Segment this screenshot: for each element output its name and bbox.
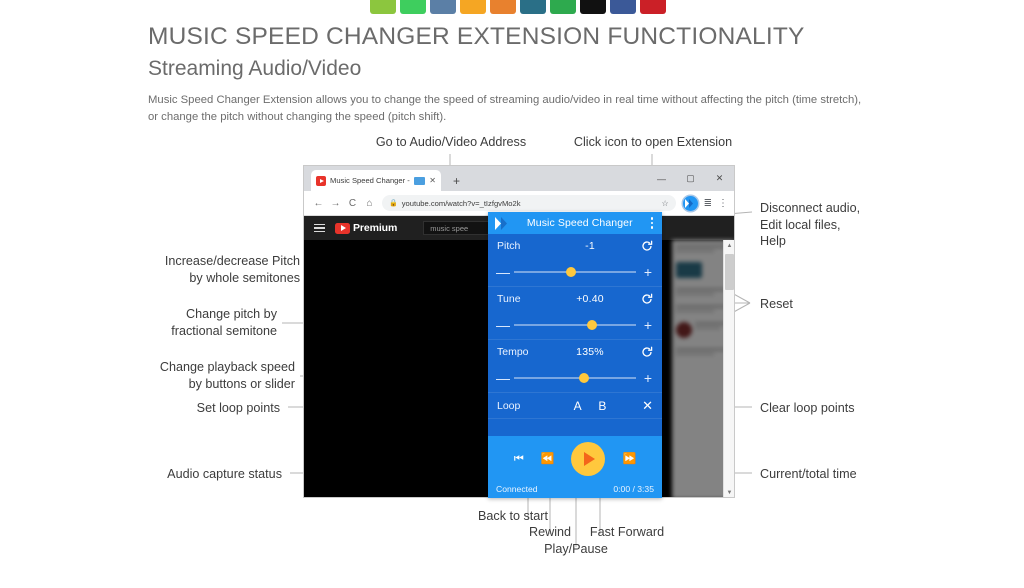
browser-tab-title: Music Speed Changer - YouT	[330, 176, 410, 185]
clear-loop-icon[interactable]: ✕	[637, 399, 653, 412]
extension-overflow-menu-icon[interactable]	[649, 215, 655, 230]
minimize-button[interactable]: —	[647, 166, 676, 191]
bookmark-star-icon[interactable]: ☆	[661, 199, 668, 208]
tune-control: Tune +0.40 — +	[488, 287, 662, 340]
loop-ab-buttons[interactable]: A B	[543, 399, 637, 413]
pitch-slider-thumb[interactable]	[566, 267, 576, 277]
wechat-share-icon[interactable]	[550, 0, 576, 14]
youtube-search-value: music spee	[430, 224, 468, 233]
annotation-click-icon: Click icon to open Extension	[556, 134, 750, 151]
tune-value: +0.40	[543, 293, 637, 305]
telegram-share-icon[interactable]	[430, 0, 456, 14]
whatsapp-share-icon[interactable]	[370, 0, 396, 14]
tab-audio-indicator-icon	[414, 177, 425, 185]
lock-icon: 🔒	[389, 199, 398, 207]
annotation-change-pitch-fractional: Change pitch by fractional semitone	[110, 306, 277, 339]
x-share-icon[interactable]	[580, 0, 606, 14]
annotation-audio-capture-status: Audio capture status	[100, 466, 282, 483]
back-to-start-button[interactable]: ⏮	[514, 454, 524, 465]
address-bar[interactable]: 🔒 youtube.com/watch?v=_tIzfgvMo2k ☆	[382, 195, 676, 211]
tune-slider[interactable]	[514, 319, 636, 331]
music-speed-changer-extension-icon[interactable]	[683, 196, 698, 211]
pitch-value: -1	[543, 240, 637, 252]
home-icon[interactable]: ⌂	[361, 198, 378, 209]
reading-list-icon[interactable]: ≣	[704, 198, 712, 209]
fast-forward-button[interactable]: ⏩	[622, 454, 636, 465]
tempo-label: Tempo	[497, 346, 543, 358]
scroll-down-icon[interactable]: ▼	[724, 487, 734, 498]
hamburger-menu-icon[interactable]	[314, 224, 325, 232]
vk-share-icon[interactable]	[520, 0, 546, 14]
annotation-go-to-address: Go to Audio/Video Address	[360, 134, 542, 151]
reload-icon[interactable]: C	[344, 198, 361, 209]
tune-reset-icon[interactable]	[637, 293, 653, 305]
pitch-reset-icon[interactable]	[637, 240, 653, 252]
page-scrollbar[interactable]: ▲ ▼	[723, 240, 734, 498]
pitch-label: Pitch	[497, 240, 543, 252]
address-bar-url: youtube.com/watch?v=_tIzfgvMo2k	[402, 199, 521, 208]
pinterest-share-icon[interactable]	[640, 0, 666, 14]
youtube-premium-logo[interactable]: Premium	[335, 222, 397, 234]
annotation-fast-forward: Fast Forward	[580, 524, 674, 541]
browser-tab[interactable]: Music Speed Changer - YouT ✕	[311, 170, 441, 191]
scroll-up-icon[interactable]: ▲	[724, 240, 734, 252]
tempo-value: 135%	[543, 346, 637, 358]
tune-slider-thumb[interactable]	[587, 320, 597, 330]
youtube-play-icon	[335, 223, 350, 234]
maximize-button[interactable]: ▢	[676, 166, 705, 191]
extension-title-bar: Music Speed Changer	[488, 212, 662, 234]
time-display: 0:00 / 3:35	[613, 484, 654, 494]
annotation-increase-decrease-pitch: Increase/decrease Pitch by whole semiton…	[110, 253, 300, 286]
forward-icon[interactable]: →	[327, 198, 344, 209]
article-header: MUSIC SPEED CHANGER EXTENSION FUNCTIONAL…	[148, 22, 878, 127]
extension-title: Music Speed Changer	[517, 217, 643, 229]
play-pause-button[interactable]	[571, 442, 605, 476]
tune-decrease-button[interactable]: —	[496, 318, 508, 332]
pitch-control: Pitch -1 — +	[488, 234, 662, 287]
annotation-play-pause: Play/Pause	[528, 541, 624, 558]
tune-increase-button[interactable]: +	[642, 318, 654, 332]
page-intro-text: Music Speed Changer Extension allows you…	[148, 92, 870, 127]
odnoklassniki-share-icon[interactable]	[460, 0, 486, 14]
window-controls: — ▢ ✕	[647, 166, 734, 191]
music-speed-changer-panel: Music Speed Changer Pitch -1 — + Tune +0…	[488, 212, 662, 498]
annotation-back-to-start: Back to start	[458, 508, 568, 525]
youtube-favicon-icon	[316, 176, 326, 186]
scrollbar-thumb[interactable]	[725, 254, 734, 290]
extension-logo-icon	[495, 217, 511, 230]
tune-label: Tune	[497, 293, 543, 305]
tempo-increase-button[interactable]: +	[642, 371, 654, 385]
annotation-set-loop-points: Set loop points	[110, 400, 280, 417]
new-tab-button[interactable]: +	[453, 174, 460, 188]
annotation-current-total-time: Current/total time	[760, 466, 920, 483]
tempo-reset-icon[interactable]	[637, 346, 653, 358]
social-share-strip	[370, 0, 666, 14]
pitch-increase-button[interactable]: +	[642, 265, 654, 279]
close-tab-icon[interactable]: ✕	[429, 176, 436, 185]
loop-control: Loop A B ✕	[488, 393, 662, 419]
tempo-control: Tempo 135% — +	[488, 340, 662, 393]
annotation-clear-loop-points: Clear loop points	[760, 400, 920, 417]
youtube-brand-label: Premium	[353, 222, 397, 234]
capture-status-label: Connected	[496, 484, 538, 494]
tempo-decrease-button[interactable]: —	[496, 371, 508, 385]
back-icon[interactable]: ←	[310, 198, 327, 209]
transport-bar: ⏮ ⏪ ⏩ Connected 0:00 / 3:35	[488, 436, 662, 498]
tempo-slider-thumb[interactable]	[579, 373, 589, 383]
tempo-slider[interactable]	[514, 372, 636, 384]
annotation-disconnect-edit-help: Disconnect audio, Edit local files, Help	[760, 200, 920, 250]
loop-label: Loop	[497, 400, 543, 412]
pitch-slider[interactable]	[514, 266, 636, 278]
annotation-reset: Reset	[760, 296, 880, 313]
reddit-share-icon[interactable]	[490, 0, 516, 14]
page-subtitle: Streaming Audio/Video	[148, 55, 878, 82]
page-title: MUSIC SPEED CHANGER EXTENSION FUNCTIONAL…	[148, 22, 878, 53]
annotation-change-playback-speed: Change playback speed by buttons or slid…	[105, 359, 295, 392]
browser-tab-strip: Music Speed Changer - YouT ✕ + — ▢ ✕	[304, 166, 734, 191]
facebook-share-icon[interactable]	[610, 0, 636, 14]
rewind-button[interactable]: ⏪	[541, 454, 555, 465]
browser-menu-icon[interactable]: ⋮	[718, 198, 728, 209]
close-window-button[interactable]: ✕	[705, 166, 734, 191]
pitch-decrease-button[interactable]: —	[496, 265, 508, 279]
line-share-icon[interactable]	[400, 0, 426, 14]
